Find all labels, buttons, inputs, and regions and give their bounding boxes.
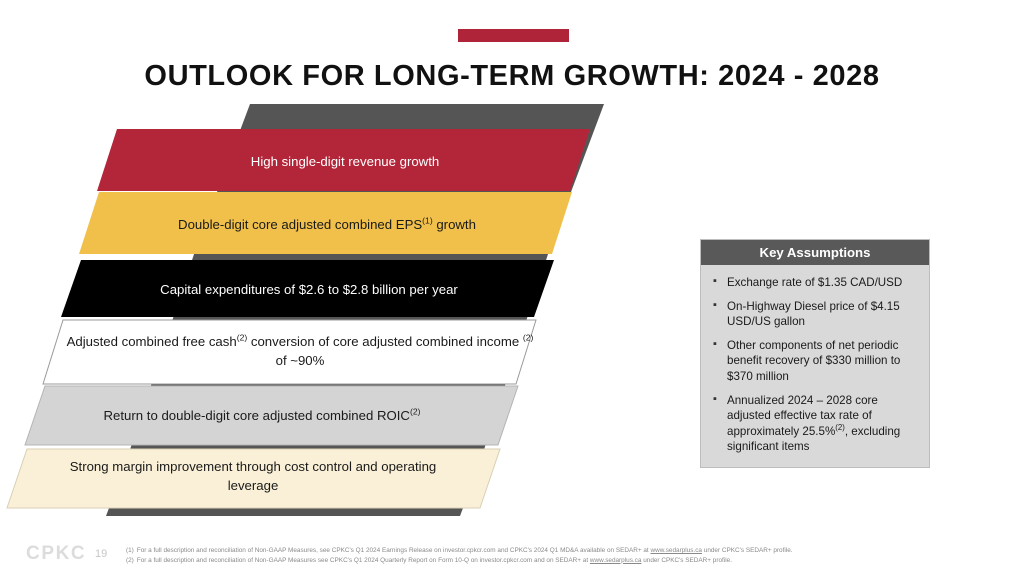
key-assumption-item: On-Highway Diesel price of $4.15 USD/US … — [709, 299, 917, 330]
assumption-text: Other components of net periodic benefit… — [727, 339, 900, 383]
title-accent-bar — [458, 29, 569, 42]
funnel-svg — [0, 104, 700, 529]
footnote-number: (2) — [126, 557, 134, 564]
key-assumptions-panel: Key Assumptions Exchange rate of $1.35 C… — [700, 239, 930, 468]
footnote-number: (1) — [126, 547, 134, 554]
footnote-row: (2)For a full description and reconcilia… — [126, 556, 1006, 566]
footnote-text: For a full description and reconciliatio… — [137, 547, 651, 554]
key-assumption-item: Exchange rate of $1.35 CAD/USD — [709, 275, 917, 291]
funnel-bar-revenue-growth[interactable] — [97, 129, 590, 191]
assumption-text: On-Highway Diesel price of $4.15 USD/US … — [727, 300, 900, 329]
key-assumptions-header: Key Assumptions — [701, 240, 929, 265]
footnote-text-tail: under CPKC's SEDAR+ profile. — [702, 547, 793, 554]
sedar-link[interactable]: www.sedarplus.ca — [590, 557, 642, 564]
sedar-link[interactable]: www.sedarplus.ca — [650, 547, 702, 554]
footnote-row: (1)For a full description and reconcilia… — [126, 546, 1006, 556]
funnel-bar-free-cash-conversion[interactable] — [43, 320, 536, 384]
key-assumptions-body: Exchange rate of $1.35 CAD/USD On-Highwa… — [701, 265, 929, 467]
key-assumption-item: Annualized 2024 – 2028 core adjusted eff… — [709, 393, 917, 455]
page-number: 19 — [95, 548, 107, 560]
footnote-text-tail: under CPKC's SEDAR+ profile. — [641, 557, 732, 564]
funnel-bar-roic[interactable] — [25, 386, 518, 445]
footnote-marker: (2) — [835, 423, 845, 432]
growth-outlook-funnel: High single-digit revenue growth Double-… — [0, 104, 700, 529]
page-title: OUTLOOK FOR LONG-TERM GROWTH: 2024 - 202… — [0, 60, 1024, 93]
cpkc-logo: CPKC — [26, 543, 86, 565]
footnotes: (1)For a full description and reconcilia… — [126, 546, 1006, 565]
funnel-bar-capital-expenditures[interactable] — [61, 260, 554, 317]
key-assumptions-list: Exchange rate of $1.35 CAD/USD On-Highwa… — [709, 275, 917, 455]
funnel-bar-eps-growth[interactable] — [79, 192, 572, 254]
funnel-bar-margin-improvement[interactable] — [7, 449, 500, 508]
key-assumption-item: Other components of net periodic benefit… — [709, 338, 917, 385]
assumption-text: Exchange rate of $1.35 CAD/USD — [727, 276, 902, 289]
footnote-text: For a full description and reconciliatio… — [137, 557, 590, 564]
